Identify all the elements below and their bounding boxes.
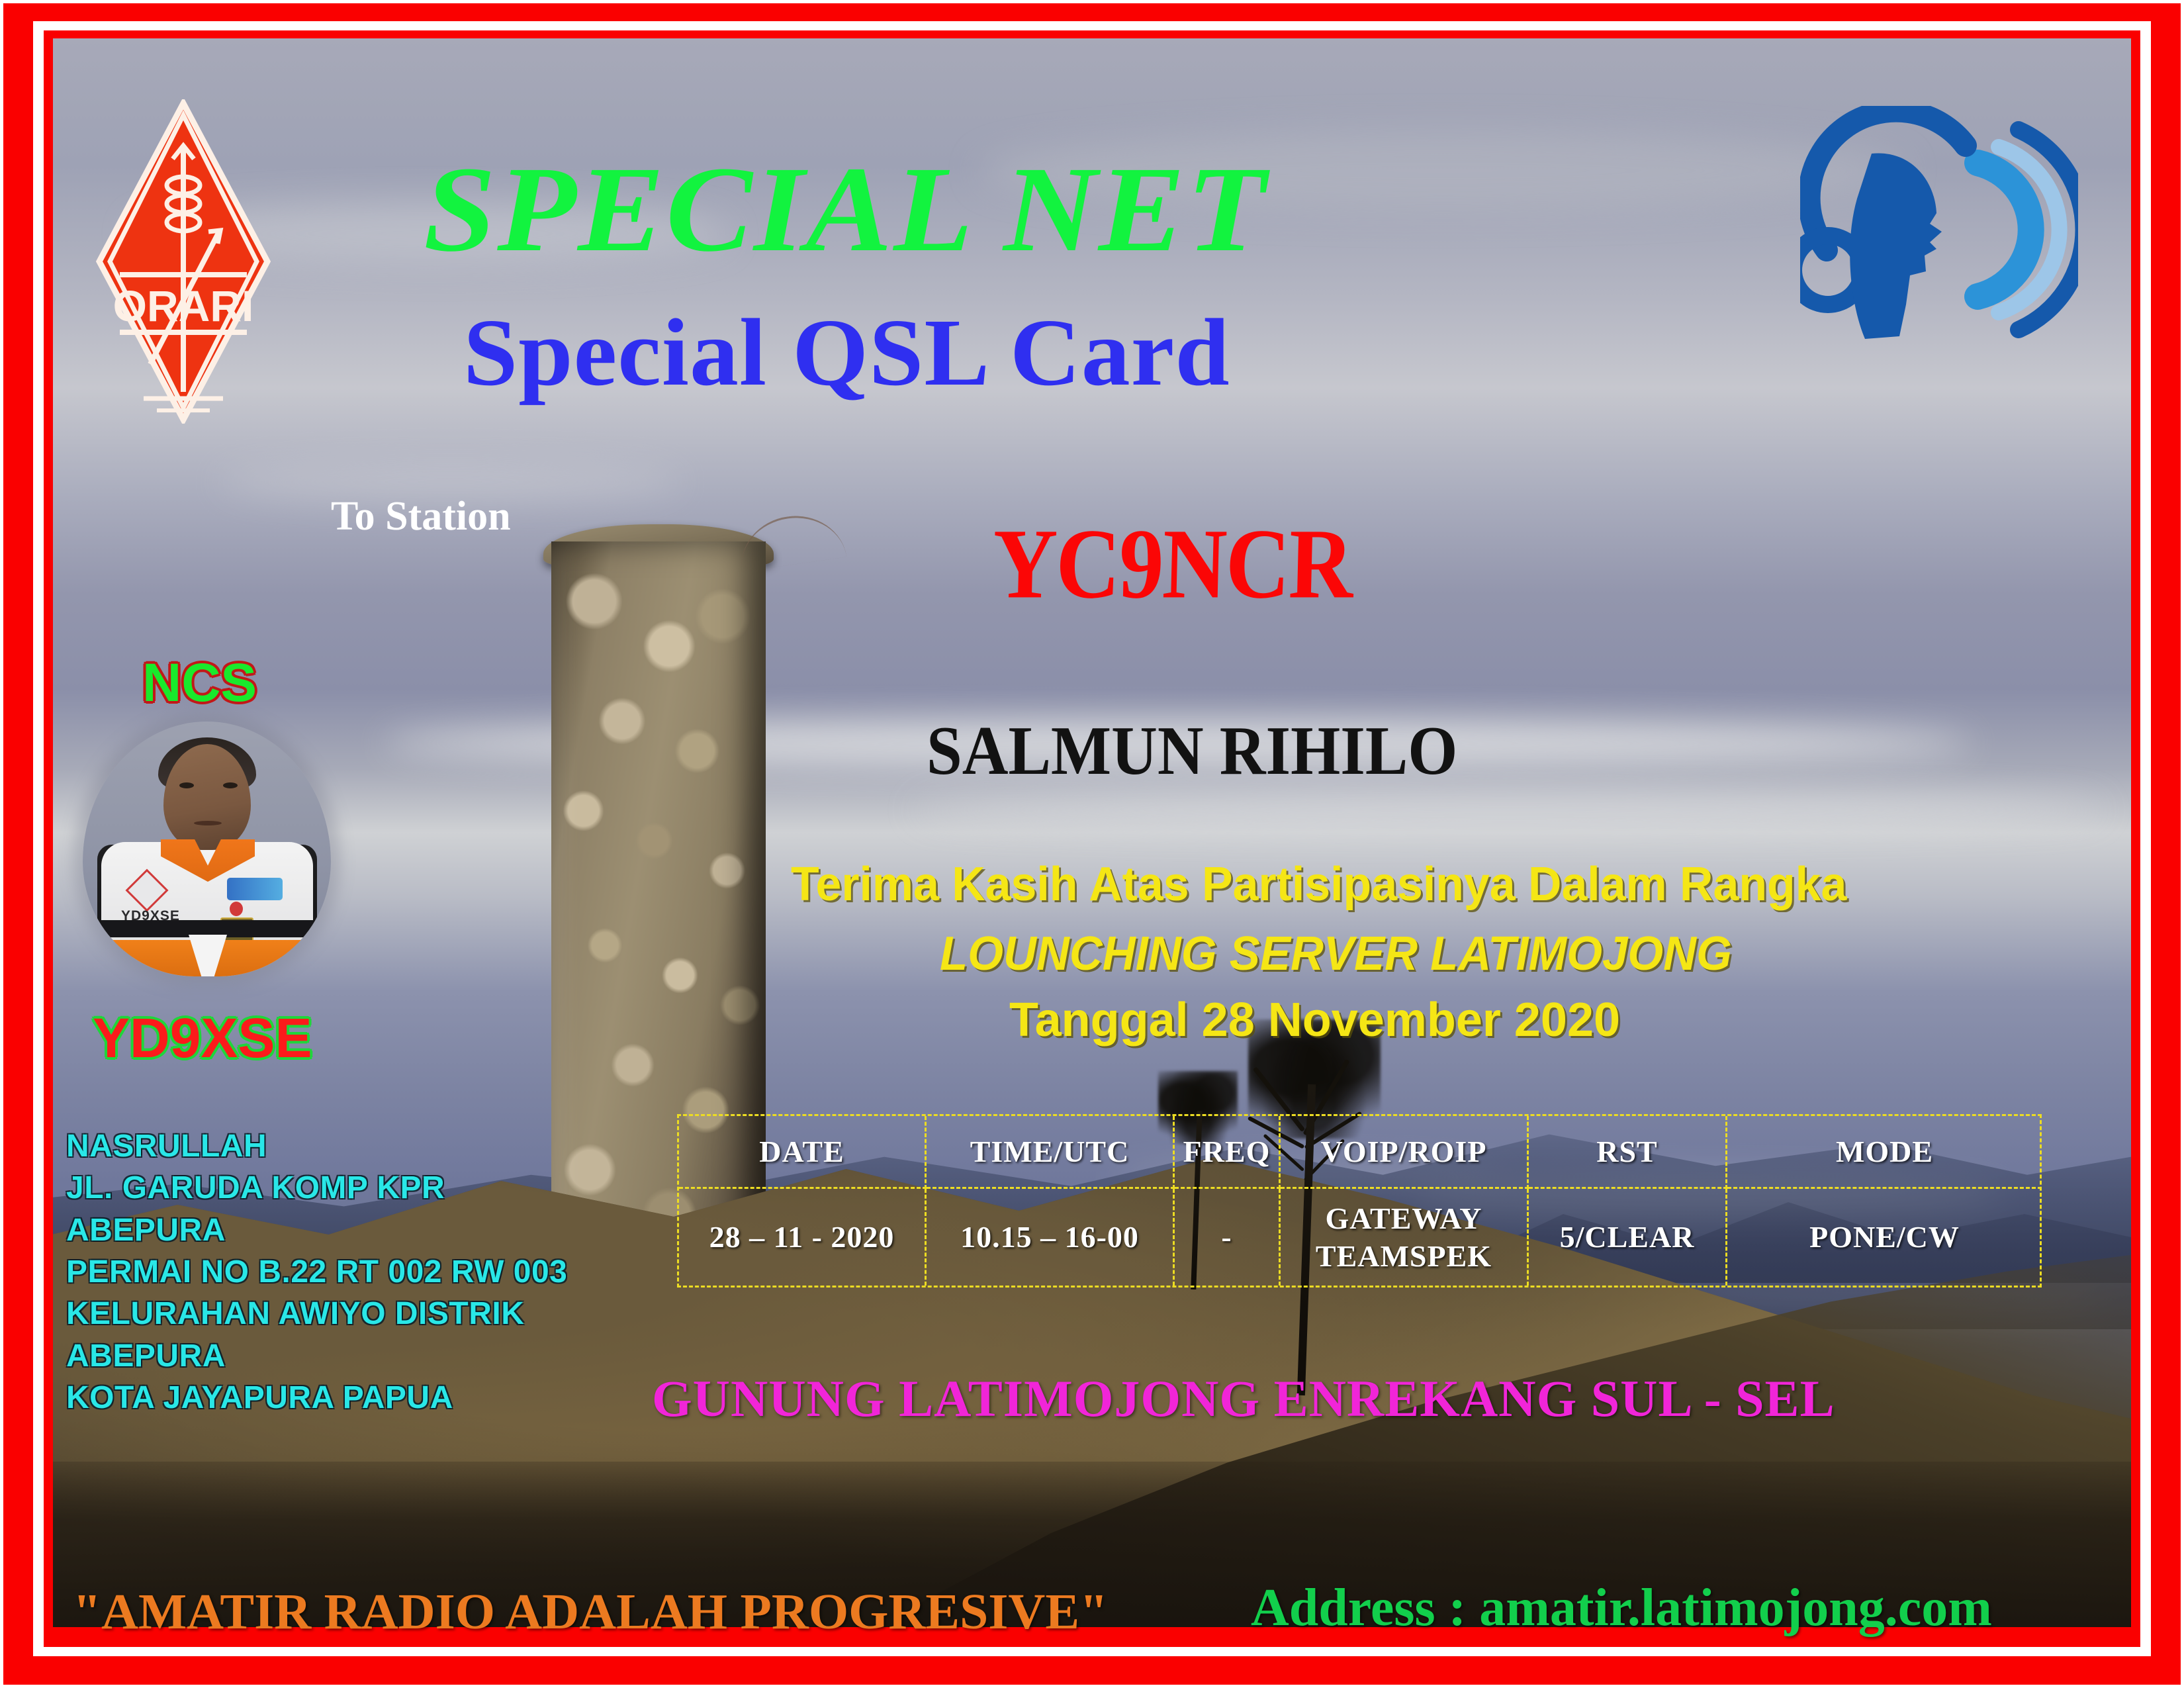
table-header-mode: MODE <box>1727 1116 2042 1189</box>
address-line: KOTA JAYAPURA PAPUA <box>66 1377 649 1419</box>
table-header-date: DATE <box>679 1116 927 1189</box>
headset-broadcast-logo <box>1800 106 2078 354</box>
qso-log-table: DATE TIME/UTC FREQ VOIP/ROIP RST MODE 28… <box>677 1114 2042 1288</box>
ncs-label: NCS <box>142 652 257 714</box>
address-line: NASRULLAH <box>66 1125 649 1167</box>
station-callsign: YC9NCR <box>991 507 1353 622</box>
page-subtitle: Special QSL Card <box>463 298 1230 408</box>
ncs-callsign: YD9XSE <box>93 1006 312 1070</box>
thanks-line-3: Tanggal 28 November 2020 <box>1009 993 1620 1047</box>
club-motto: "AMATIR RADIO ADALAH PROGRESIVE" <box>73 1583 1108 1641</box>
cloud-streak <box>913 793 2105 826</box>
thanks-line-1: Terima Kasih Atas Partisipasinya Dalam R… <box>791 857 1846 912</box>
event-location: GUNUNG LATIMOJONG ENREKANG SUL - SEL <box>652 1369 1835 1429</box>
eye-right <box>223 782 238 788</box>
address-line: ABEPURA <box>66 1335 649 1377</box>
qsl-card: ORARI <box>0 0 2184 1688</box>
shirt-callsign-label: YD9XSE <box>121 908 180 924</box>
voip-roip-line-2: TEAMSPEK <box>1316 1239 1492 1273</box>
address-line: KELURAHAN AWIYO DISTRIK <box>66 1293 649 1335</box>
table-header-rst: RST <box>1529 1116 1727 1189</box>
eye-left <box>179 782 194 788</box>
table-header-time: TIME/UTC <box>927 1116 1175 1189</box>
voip-roip-line-1: GATEWAY <box>1325 1201 1482 1235</box>
club-logo-patch-icon <box>227 878 283 900</box>
table-cell-time: 10.15 – 16-00 <box>927 1189 1175 1286</box>
to-station-label: To Station <box>331 493 511 540</box>
orari-logo: ORARI <box>96 99 271 424</box>
operator-name: SALMUN RIHILO <box>927 710 1457 790</box>
table-cell-date: 28 – 11 - 2020 <box>679 1189 927 1286</box>
orari-logo-text: ORARI <box>113 281 254 330</box>
table-cell-freq: - <box>1175 1189 1281 1286</box>
table-cell-rst: 5/CLEAR <box>1529 1189 1727 1286</box>
address-line: PERMAI NO B.22 RT 002 RW 003 <box>66 1251 649 1293</box>
ncs-operator-photo: YD9XSE <box>83 722 331 976</box>
website-address: Address : amatir.latimojong.com <box>1251 1578 1992 1638</box>
table-cell-voip-roip: GATEWAY TEAMSPEK <box>1281 1189 1529 1286</box>
table-cell-mode: PONE/CW <box>1727 1189 2042 1286</box>
address-line: JL. GARUDA KOMP KPR <box>66 1167 649 1209</box>
page-title: SPECIAL NET <box>424 139 1267 280</box>
table-header-freq: FREQ <box>1175 1116 1281 1189</box>
address-line: ABEPURA <box>66 1209 649 1251</box>
id-clip-icon <box>230 902 243 916</box>
return-address-block: NASRULLAH JL. GARUDA KOMP KPR ABEPURA PE… <box>66 1125 649 1419</box>
mouth <box>194 821 222 825</box>
table-header-voip-roip: VOIP/ROIP <box>1281 1116 1529 1189</box>
thanks-line-2: LOUNCHING SERVER LATIMOJONG <box>940 927 1732 981</box>
